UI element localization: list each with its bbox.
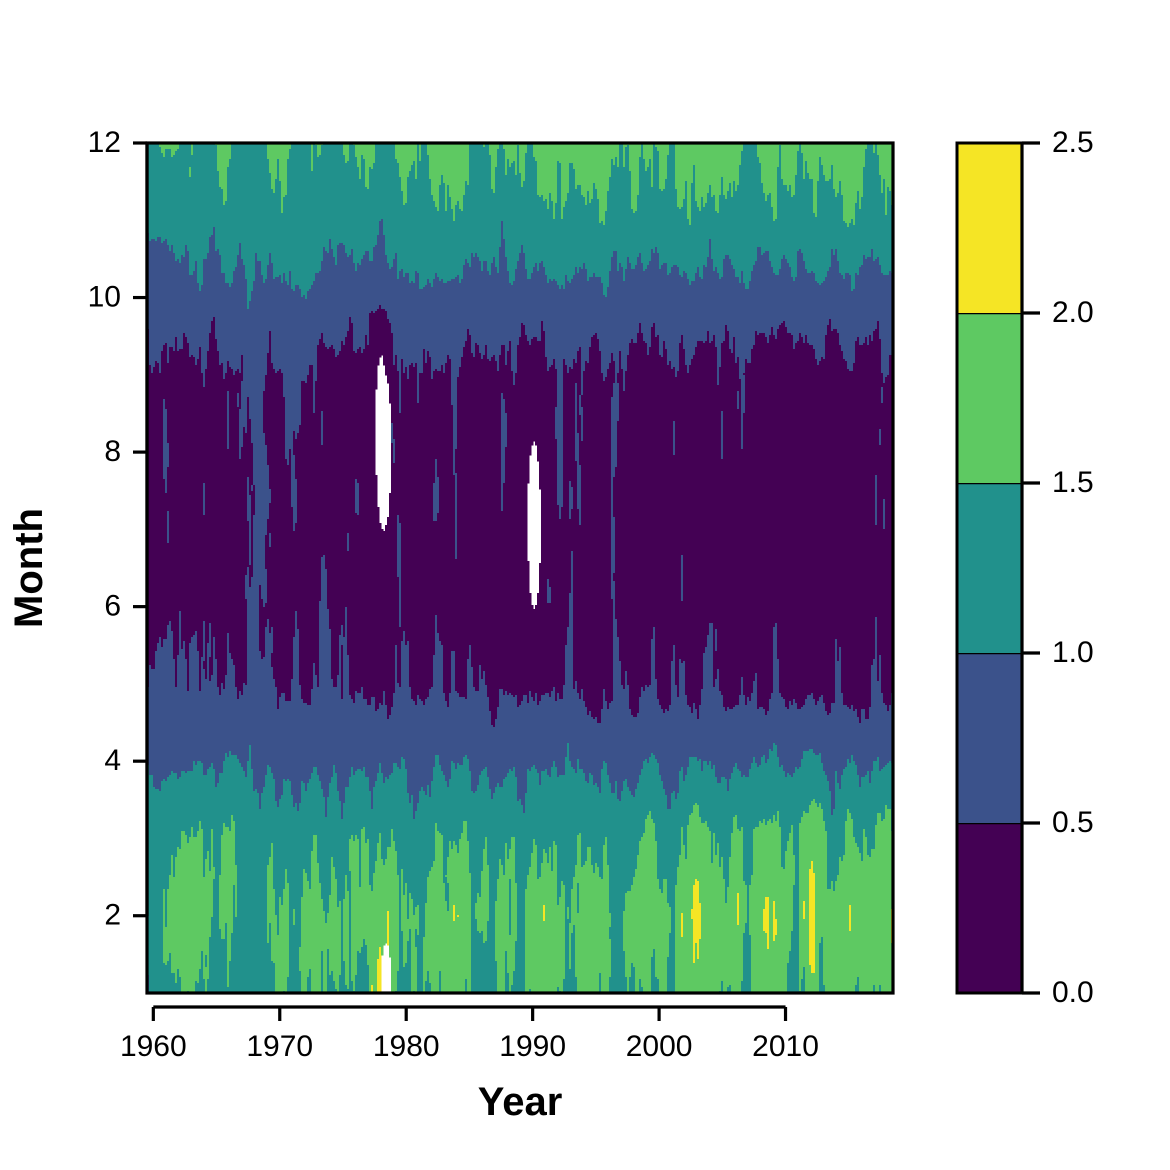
y-axis-title: Month [7, 508, 51, 628]
colorbar-tick-label: 1.5 [1052, 466, 1094, 499]
colorbar-tick-label: 0.0 [1052, 976, 1094, 1009]
colorbar-band [957, 823, 1022, 993]
colorbar-band [957, 143, 1022, 313]
y-axis-tick-label: 8 [104, 435, 121, 468]
y-axis-tick-label: 6 [104, 590, 121, 623]
x-axis-tick-label: 1980 [373, 1030, 440, 1063]
y-axis-tick-label: 4 [104, 744, 121, 777]
contour-bands [147, 143, 894, 994]
colorbar-band [957, 653, 1022, 823]
colorbar-tick-label: 1.0 [1052, 636, 1094, 669]
x-axis-tick-label: 2000 [626, 1030, 693, 1063]
plot-area [147, 143, 894, 994]
colorbar-tick-label: 0.5 [1052, 806, 1094, 839]
colorbar-band [957, 313, 1022, 483]
x-axis-tick-label: 1970 [246, 1030, 313, 1063]
y-axis-tick-label: 12 [88, 126, 121, 159]
x-axis-tick-label: 2010 [752, 1030, 819, 1063]
colorbar-tick-label: 2.0 [1052, 296, 1094, 329]
x-axis-title: Year [478, 1080, 563, 1124]
y-axis-tick-label: 10 [88, 280, 121, 313]
x-axis-tick-label: 1960 [120, 1030, 187, 1063]
x-axis-tick-label: 1990 [499, 1030, 566, 1063]
colorbar-tick-label: 2.5 [1052, 126, 1094, 159]
contour-plot-figure: 24681012 196019701980199020002010 Month … [0, 0, 1170, 1170]
y-axis-tick-label: 2 [104, 899, 121, 932]
colorbar-band [957, 483, 1022, 653]
